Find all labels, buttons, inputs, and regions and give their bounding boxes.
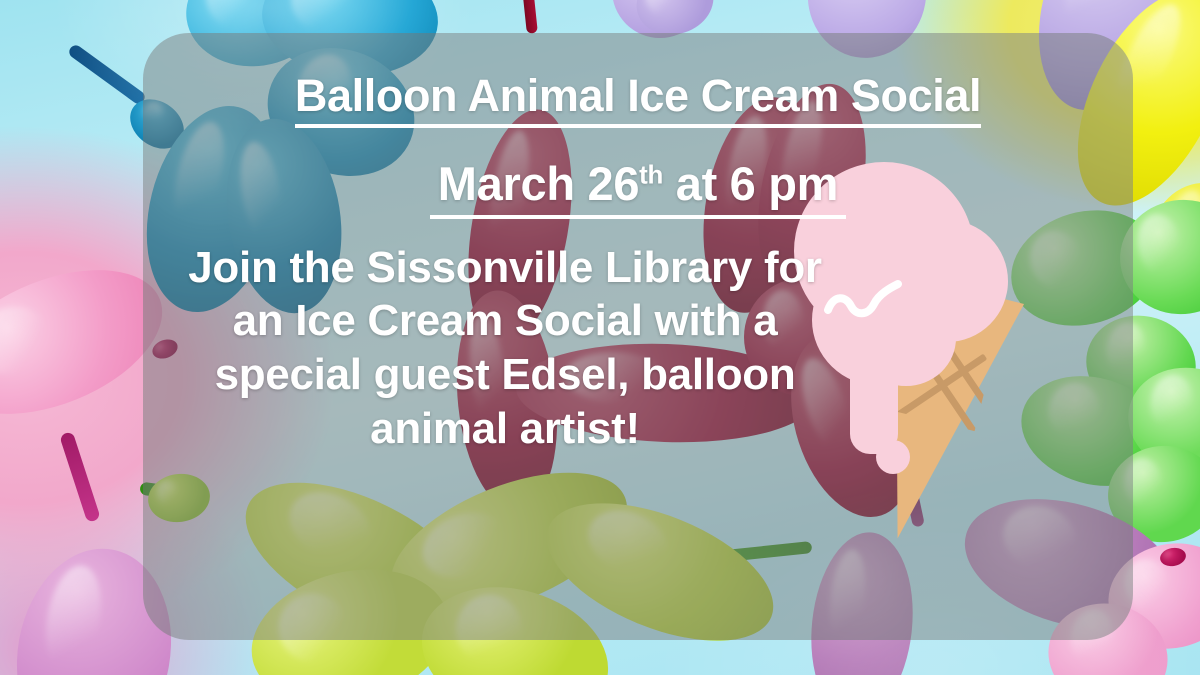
poster-text-block: Balloon Animal Ice Cream Social March 26… xyxy=(143,33,1133,640)
balloon-nozzle-magenta xyxy=(59,431,101,523)
page-title: Balloon Animal Ice Cream Social xyxy=(295,72,981,128)
event-time: at 6 pm xyxy=(663,157,838,210)
balloon-nozzle-crimson xyxy=(518,0,538,34)
event-date-ordinal: th xyxy=(639,162,663,190)
balloon-nozzle-cyan xyxy=(67,43,147,106)
event-datetime: March 26th at 6 pm xyxy=(430,159,846,218)
event-date-number: March 26 xyxy=(438,157,639,210)
event-description: Join the Sissonville Library for an Ice … xyxy=(143,241,843,456)
balloon-yellow-2 xyxy=(1132,170,1200,314)
balloon-pink-knot-2 xyxy=(1159,546,1188,568)
poster-canvas: Balloon Animal Ice Cream Social March 26… xyxy=(0,0,1200,675)
